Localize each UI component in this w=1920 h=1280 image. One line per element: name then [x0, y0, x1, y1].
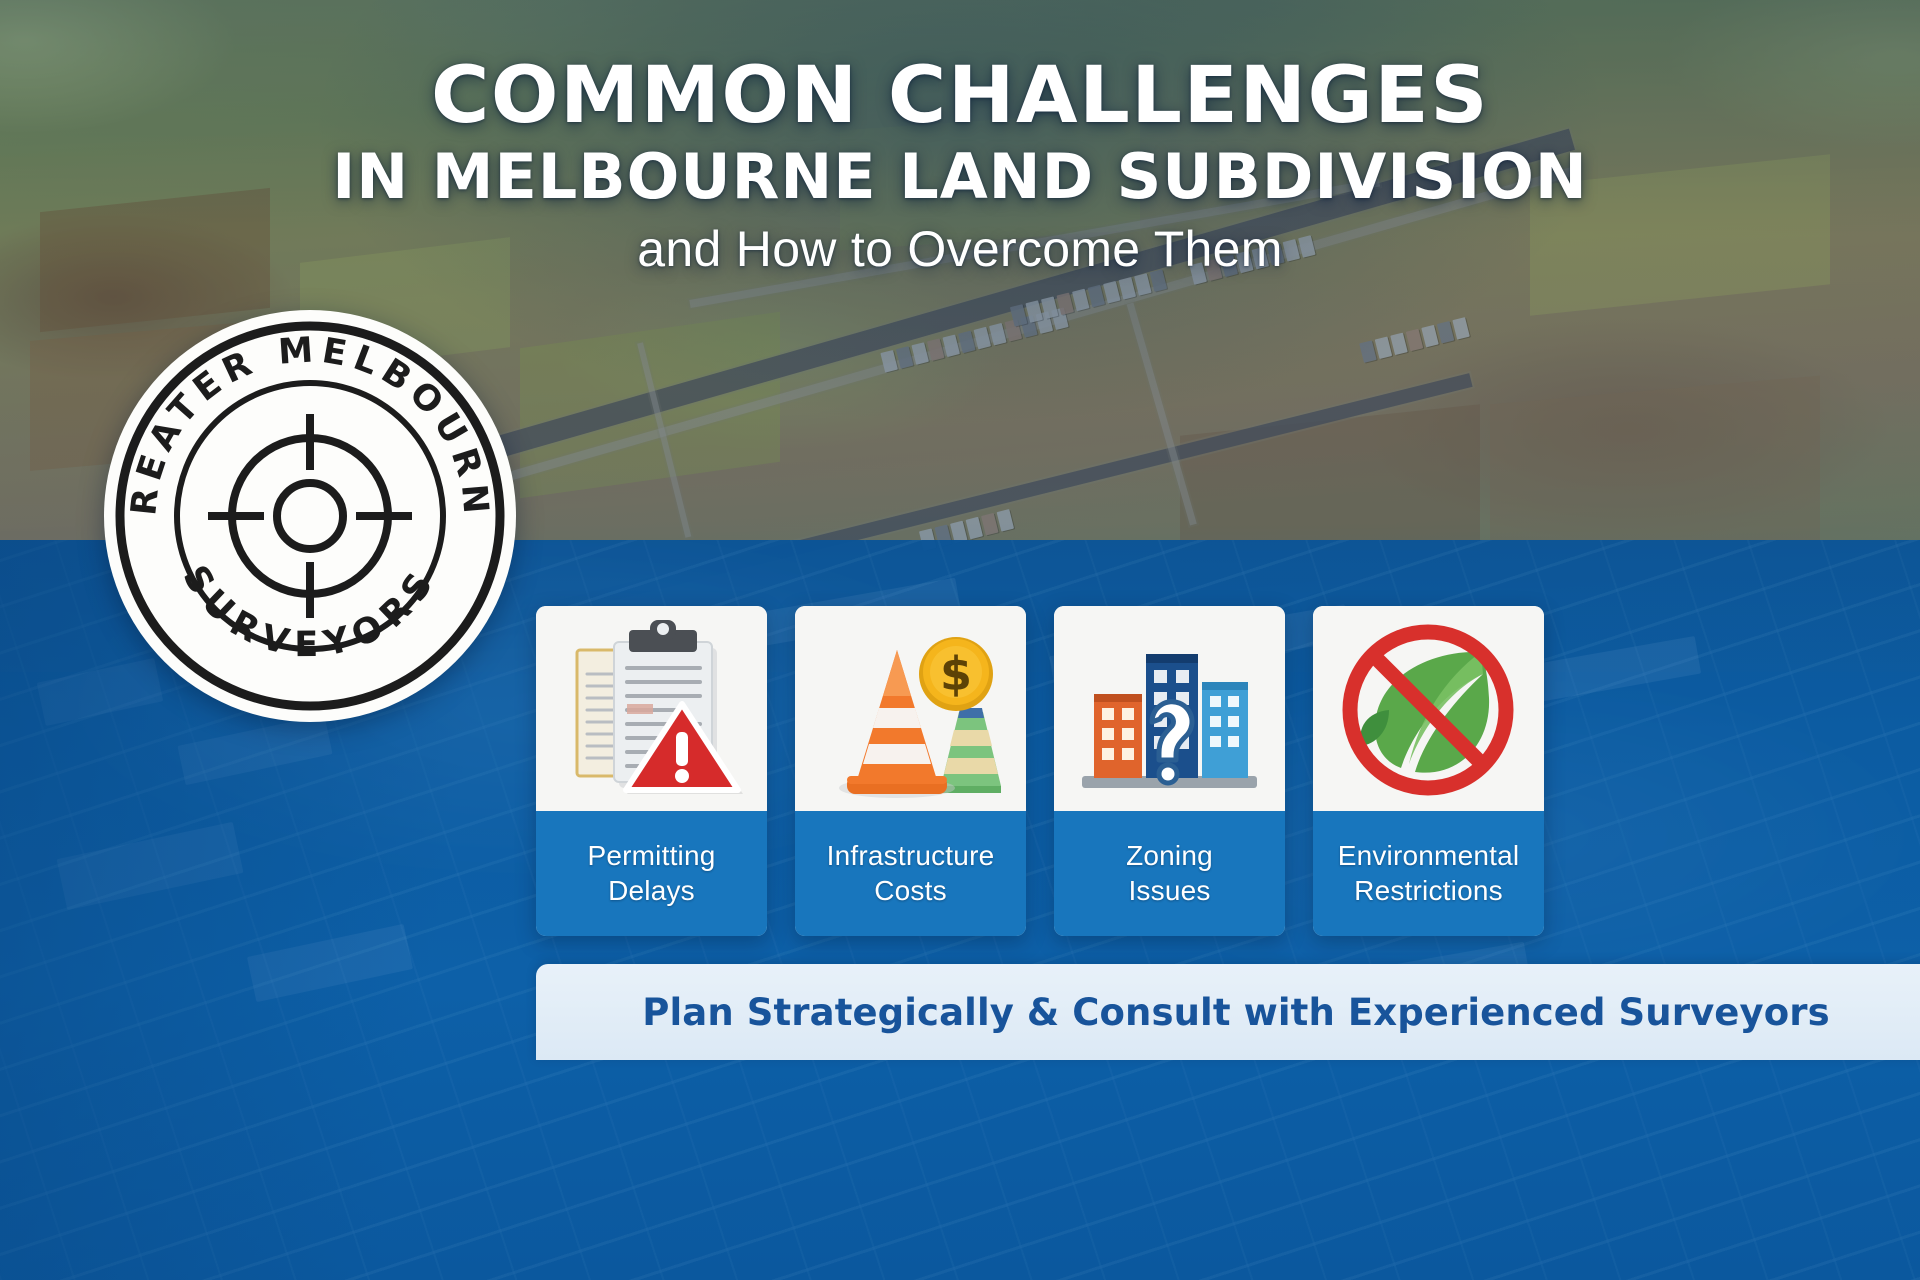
traffic-cone-money-icon: $ — [811, 616, 1011, 801]
no-leaf-prohibited-icon — [1331, 616, 1526, 801]
card-label-line1: Environmental — [1338, 839, 1520, 873]
card-illustration: $ — [795, 606, 1026, 811]
challenge-card[interactable]: $ Infrastructure Costs — [795, 606, 1026, 936]
infographic-canvas: COMMON CHALLENGES IN MELBOURNE LAND SUBD… — [0, 0, 1920, 1280]
card-illustration — [536, 606, 767, 811]
card-label-line2: Delays — [608, 874, 695, 908]
card-caption: Infrastructure Costs — [795, 811, 1026, 936]
clipboard-warning-icon — [557, 616, 747, 801]
svg-text:$: $ — [939, 647, 971, 701]
challenge-card[interactable]: Permitting Delays — [536, 606, 767, 936]
card-label-line2: Costs — [874, 874, 947, 908]
greater-melbourne-surveyors-logo: GREATER MELBOURNE SURVEYORS — [104, 310, 516, 722]
challenge-card[interactable]: Environmental Restrictions — [1313, 606, 1544, 936]
challenge-cards-row: Permitting Delays — [536, 606, 1920, 936]
card-label-line2: Restrictions — [1354, 874, 1503, 908]
card-caption: Permitting Delays — [536, 811, 767, 936]
challenge-card[interactable]: Zoning Issues — [1054, 606, 1285, 936]
card-label-line1: Infrastructure — [827, 839, 995, 873]
buildings-question-icon — [1072, 616, 1267, 801]
cta-banner: Plan Strategically & Consult with Experi… — [536, 964, 1920, 1060]
card-label-line2: Issues — [1128, 874, 1210, 908]
card-caption: Environmental Restrictions — [1313, 811, 1544, 936]
card-caption: Zoning Issues — [1054, 811, 1285, 936]
card-illustration — [1313, 606, 1544, 811]
card-label-line1: Zoning — [1126, 839, 1213, 873]
cta-banner-text: Plan Strategically & Consult with Experi… — [642, 991, 1829, 1034]
card-illustration — [1054, 606, 1285, 811]
card-label-line1: Permitting — [587, 839, 715, 873]
